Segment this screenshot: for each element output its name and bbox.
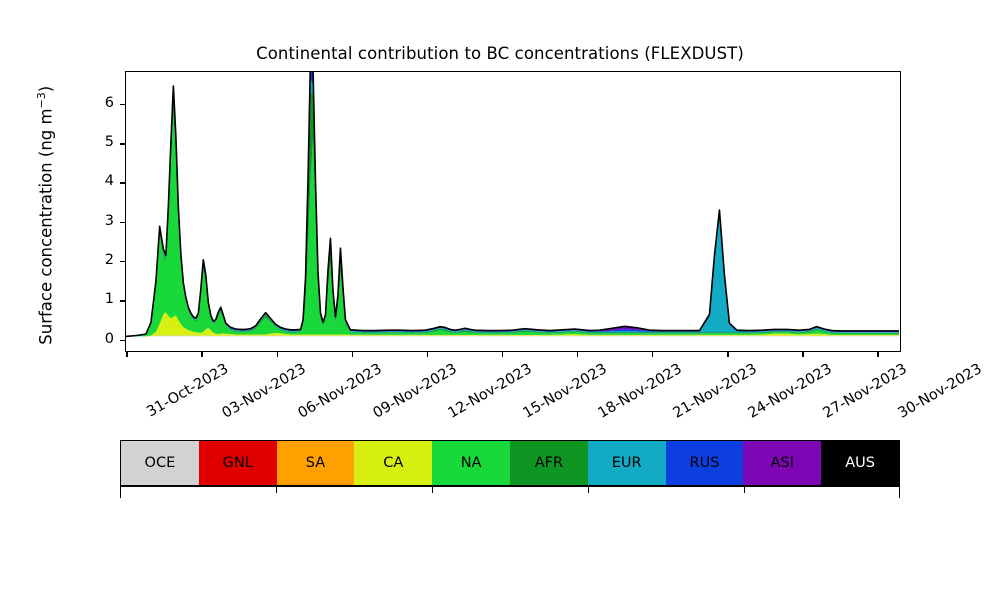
x-axis-tick-mark (802, 352, 803, 357)
x-axis-tick-label: 27-Nov-2023 (821, 361, 910, 422)
plot-area (125, 71, 901, 352)
x-axis-tick-label: 09-Nov-2023 (370, 361, 459, 422)
x-axis-tick-mark (652, 352, 653, 357)
legend-label: OCE (145, 455, 176, 471)
y-axis-tick-label: 6 (88, 96, 114, 111)
colorbar-tick (744, 487, 745, 493)
legend-label: AUS (845, 455, 875, 471)
legend-label: AFR (535, 455, 563, 471)
figure-canvas: Continental contribution to BC concentra… (0, 0, 1000, 600)
legend-label: GNL (223, 455, 253, 471)
legend-segment-na[interactable]: NA (432, 441, 510, 485)
colorbar-tick (432, 487, 433, 493)
x-axis-tick-label: 03-Nov-2023 (220, 361, 309, 422)
colorbar-axis-line (120, 486, 900, 487)
legend-segment-rus[interactable]: RUS (666, 441, 744, 485)
legend-segment-ca[interactable]: CA (354, 441, 432, 485)
legend-segment-afr[interactable]: AFR (510, 441, 588, 485)
area-series-eur (126, 80, 899, 337)
colorbar-tick (899, 486, 900, 498)
x-axis-tick-label: 12-Nov-2023 (445, 361, 534, 422)
area-series-rus (126, 72, 899, 336)
x-axis-tick-mark (877, 352, 878, 357)
x-axis-tick-label: 15-Nov-2023 (520, 361, 609, 422)
total-concentration-outline (126, 72, 899, 336)
y-axis-tick-label: 3 (88, 214, 114, 229)
legend-label: CA (383, 455, 403, 471)
y-axis-tick-label: 5 (88, 135, 114, 150)
x-axis-tick-mark (277, 352, 278, 357)
area-series-aus (126, 72, 899, 336)
y-axis-tick-label: 1 (88, 292, 114, 307)
chart-title: Continental contribution to BC concentra… (0, 44, 1000, 63)
x-axis-tick-mark (727, 352, 728, 357)
x-axis-tick-label: 24-Nov-2023 (746, 361, 835, 422)
legend-segment-gnl[interactable]: GNL (199, 441, 277, 485)
legend-segment-aus[interactable]: AUS (821, 441, 899, 485)
x-axis-tick-label: 31-Oct-2023 (145, 361, 232, 421)
y-axis-label-text: Surface concentration (ng m (36, 108, 55, 344)
legend-segment-asi[interactable]: ASI (743, 441, 821, 485)
area-series-oce (126, 336, 899, 337)
legend-segment-eur[interactable]: EUR (588, 441, 666, 485)
x-axis-tick-mark (352, 352, 353, 357)
y-axis-tick-label: 4 (88, 174, 114, 189)
x-axis-tick-mark (577, 352, 578, 357)
colorbar-tick (588, 487, 589, 493)
x-axis-tick-label: 21-Nov-2023 (671, 361, 760, 422)
legend-segment-oce[interactable]: OCE (121, 441, 199, 485)
area-series-asi (126, 72, 899, 336)
x-axis-tick-label: 30-Nov-2023 (896, 361, 985, 422)
x-axis-tick-mark (502, 352, 503, 357)
area-series-afr (126, 93, 899, 336)
area-series-na (126, 115, 899, 337)
x-axis-tick-label: 06-Nov-2023 (295, 361, 384, 422)
x-axis-tick-mark (126, 352, 127, 357)
x-axis-tick-mark (201, 352, 202, 357)
y-axis-tick-label: 2 (88, 253, 114, 268)
category-colorbar-legend: OCEGNLSACANAAFREURRUSASIAUS (120, 440, 900, 486)
y-axis-label-suffix: ) (36, 86, 55, 92)
legend-label: NA (461, 455, 482, 471)
colorbar-tick (276, 487, 277, 493)
y-axis-tick-label: 0 (88, 332, 114, 347)
legend-label: RUS (690, 455, 720, 471)
y-axis-label: Surface concentration (ng m−3) (35, 15, 56, 415)
legend-segment-sa[interactable]: SA (277, 441, 355, 485)
legend-label: EUR (612, 455, 642, 471)
colorbar-tick (120, 486, 121, 498)
legend-label: ASI (771, 455, 794, 471)
x-axis-tick-mark (427, 352, 428, 357)
legend-label: SA (306, 455, 325, 471)
stacked-area-plot (126, 72, 899, 350)
x-axis-tick-label: 18-Nov-2023 (596, 361, 685, 422)
y-axis-label-exponent: −3 (35, 92, 48, 108)
